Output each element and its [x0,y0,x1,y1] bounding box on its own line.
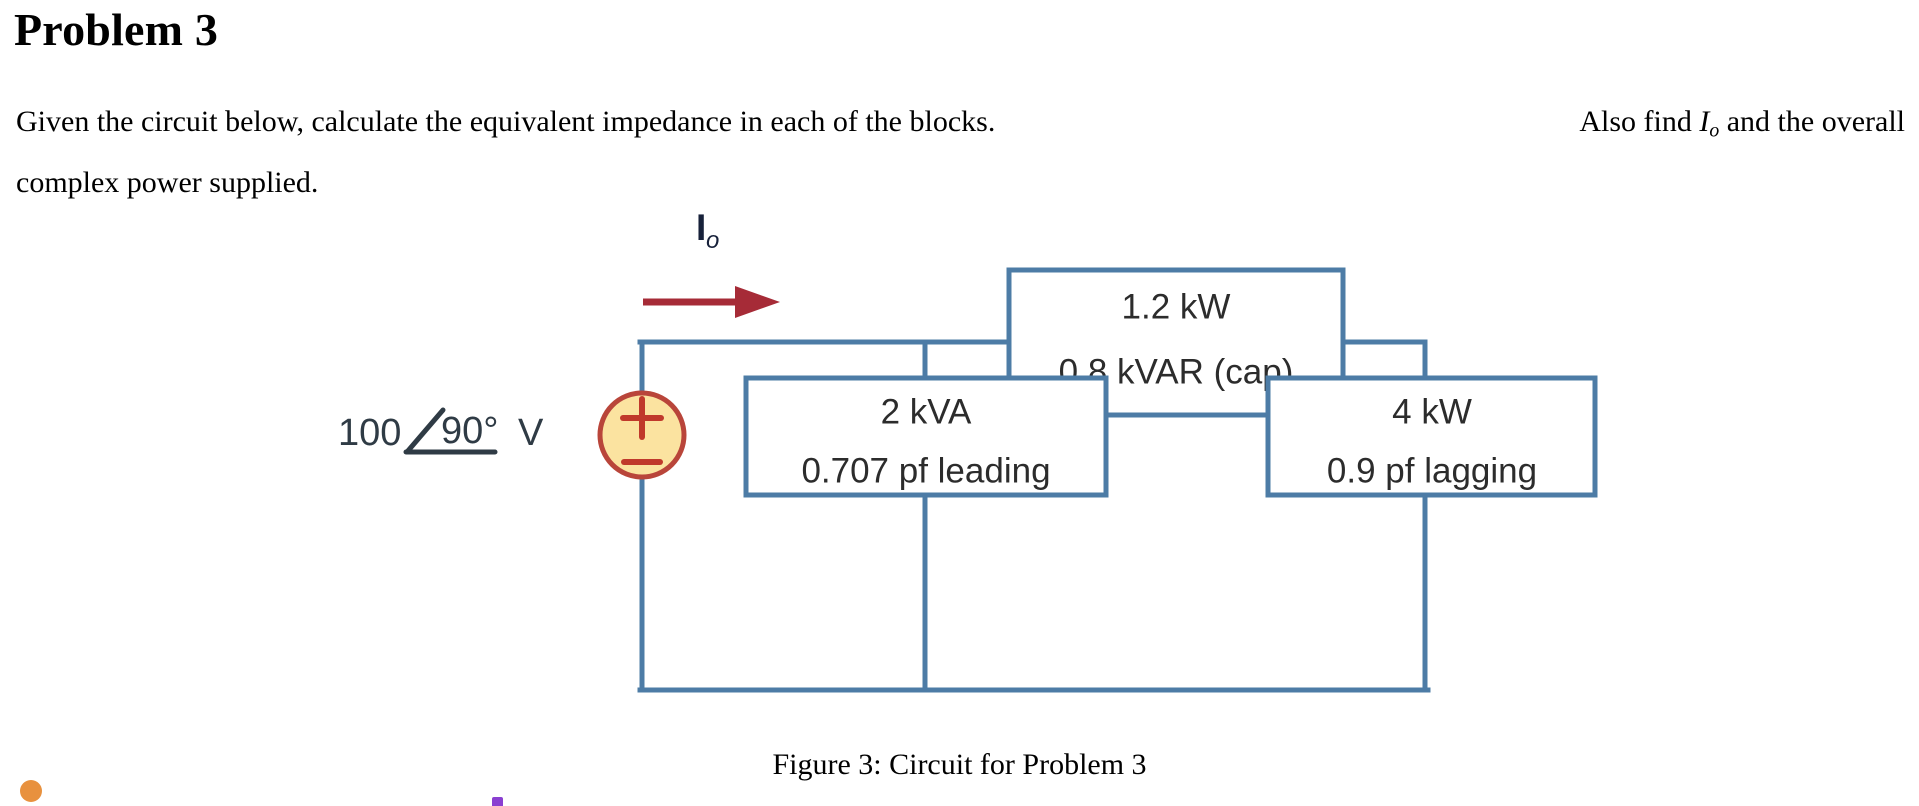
current-label-subscript: o [706,227,719,254]
wire-top-block-to-right [1343,342,1425,380]
figure-caption: Figure 3: Circuit for Problem 3 [0,748,1919,782]
block-top-load-line1: 1.2 kW [1122,287,1231,326]
current-symbol-inline-subscript: o [1709,120,1719,142]
block-right-load-line2: 0.9 pf lagging [1327,451,1537,490]
block-middle-load[interactable]: 2 kVA 0.707 pf leading [746,378,1106,495]
orange-bullet-mark [20,780,42,802]
problem-statement-also-find: Also find [1579,105,1692,138]
current-arrow-head-icon [735,286,780,318]
source-label: 100 90° V [338,410,544,454]
circuit-svg: 1.2 kW 0.8 kVAR (cap) 2 kVA 0.707 pf lea… [0,190,1919,730]
problem-statement-line-1-suffix: and the overall [1727,105,1905,138]
source-label-angle: 90° [441,410,498,452]
block-middle-load-line1: 2 kVA [881,392,972,431]
current-arrow [643,286,780,318]
source-label-magnitude: 100 [338,412,401,454]
block-right-load-line1: 4 kW [1392,392,1472,431]
current-label-group: I o [696,207,719,254]
block-middle-load-line2: 0.707 pf leading [801,451,1050,490]
current-label: I [696,207,706,248]
current-symbol-inline: I [1699,105,1709,138]
purple-cursor-fragment [492,797,503,806]
source-label-unit: V [518,412,544,454]
block-right-load[interactable]: 4 kW 0.9 pf lagging [1268,378,1595,495]
voltage-source[interactable] [600,393,684,477]
problem-statement-line-1-text: Given the circuit below, calculate the e… [16,96,995,157]
problem-statement-line-1-tail: Also find Io and the overall [1579,96,1905,157]
circuit-diagram: 1.2 kW 0.8 kVAR (cap) 2 kVA 0.707 pf lea… [0,190,1919,730]
problem-statement-line-1: Given the circuit below, calculate the e… [16,96,1905,157]
page-title: Problem 3 [14,2,218,58]
